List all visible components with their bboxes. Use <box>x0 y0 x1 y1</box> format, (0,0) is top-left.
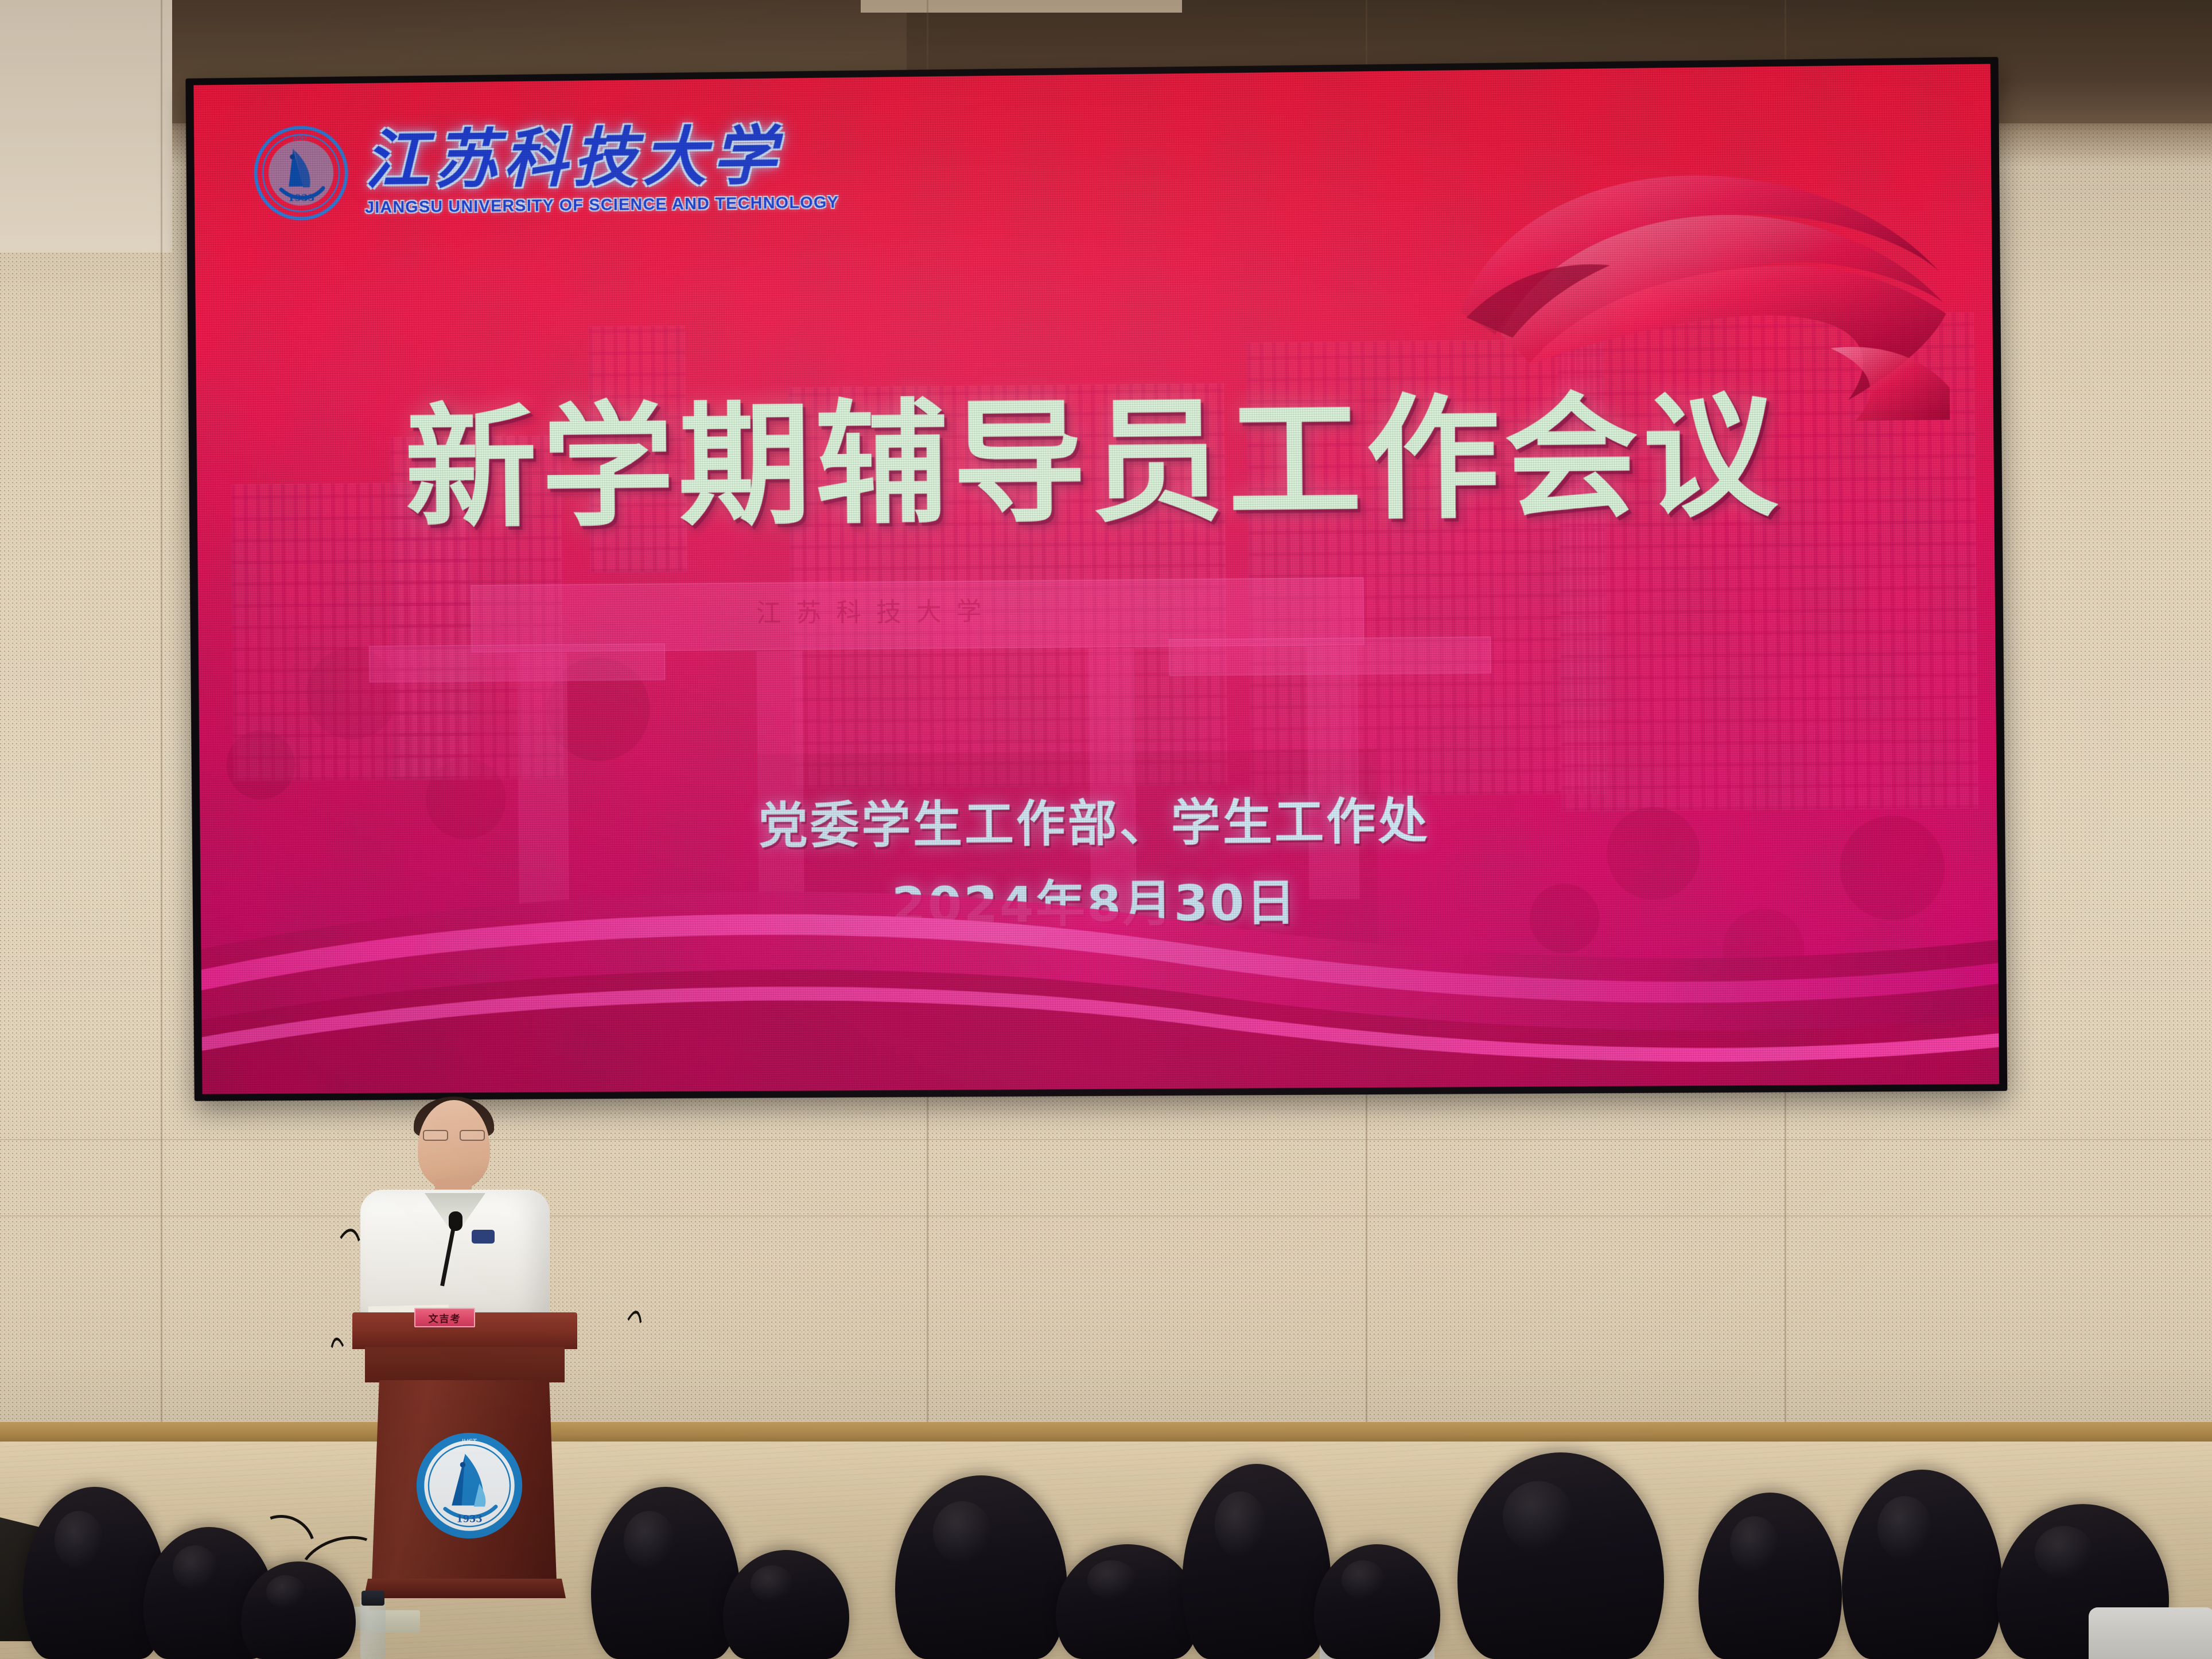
audience-head <box>1457 1452 1664 1659</box>
presentation-slide[interactable]: 江苏科技大学 <box>193 64 1999 1094</box>
university-seal-icon: 1933 JUST <box>253 125 349 222</box>
silk-ribbon-decoration <box>1424 99 1959 427</box>
university-logo: 1933 JUST 江苏科技大学 JIANGSU UNIVERSITY OF S… <box>253 119 839 222</box>
podium-middle-band <box>365 1347 565 1382</box>
audience-rows <box>0 1412 2212 1659</box>
speaker-badge <box>472 1230 495 1244</box>
slide-wave-decoration <box>200 836 1999 1094</box>
audience-head <box>1056 1544 1199 1659</box>
auditorium-scene: 江苏科技大学 <box>0 0 2212 1659</box>
logo-name-cn: 江苏科技大学 <box>364 122 839 195</box>
upper-wall-light-panel-left <box>0 0 172 252</box>
audience-head <box>1182 1464 1331 1659</box>
audience-head <box>1698 1493 1842 1659</box>
podium-nameplate: 文吉考 <box>414 1308 475 1327</box>
audience-head <box>591 1487 740 1659</box>
podium-nameplate-text: 文吉考 <box>429 1311 461 1325</box>
svg-text:JUST: JUST <box>293 134 308 141</box>
glasses-icon <box>422 1130 486 1141</box>
audience-head <box>1842 1470 2003 1659</box>
audience-head <box>23 1487 166 1659</box>
wall-panel-horizontal-seam <box>0 1139 2212 1140</box>
wall-panel-seam <box>161 0 162 1659</box>
slide-title: 新学期辅导员工作会议 <box>196 387 1994 537</box>
wall-panel-horizontal-seam <box>0 1215 2212 1217</box>
audience-head <box>1314 1544 1440 1659</box>
audience-head <box>895 1475 1067 1659</box>
svg-text:1933: 1933 <box>288 192 314 203</box>
led-display-screen[interactable]: 江苏科技大学 <box>185 57 2007 1101</box>
ceiling-strip <box>861 0 1182 13</box>
microphone-icon <box>449 1211 462 1231</box>
audience-head <box>723 1550 849 1659</box>
audience-shirt <box>2089 1607 2212 1659</box>
